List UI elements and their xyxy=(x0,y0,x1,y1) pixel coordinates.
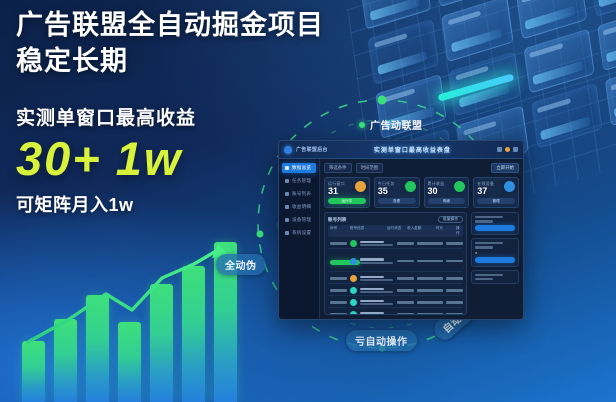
table-row[interactable] xyxy=(328,298,463,308)
sidebar-item-revenue[interactable]: 收益明细 xyxy=(282,202,316,212)
batch-action-button[interactable]: 批量操作 xyxy=(438,216,463,223)
row-status xyxy=(397,260,414,262)
stat-card[interactable]: 累计收益 30 明细 xyxy=(424,177,470,208)
row-duration xyxy=(446,242,463,244)
overview-icon xyxy=(285,166,289,170)
summary-highlight: ● xyxy=(475,251,515,255)
status-icon xyxy=(454,181,465,192)
dashboard-main: 筛选条件 时间范围 立即开始 运行窗口 31 运行中 xyxy=(320,159,523,319)
row-status xyxy=(397,301,414,303)
summary-value xyxy=(475,246,493,248)
sidebar-item-label: 数据总览 xyxy=(292,165,311,171)
summary-side-panel: ● xyxy=(471,212,519,315)
ring-label-top-text: 广告动联盟 xyxy=(370,117,423,132)
stat-card-button[interactable]: 管理 xyxy=(477,198,515,204)
table-header-cell: 序号 xyxy=(330,226,347,236)
trend-arrow xyxy=(22,242,237,402)
grid-panel xyxy=(441,0,513,62)
table-header-cell: 操作 xyxy=(456,226,461,236)
dashboard-body: 数据总览 任务管理 账号列表 收益明细 设备管理 xyxy=(279,159,523,319)
devices-icon xyxy=(285,218,289,222)
grid-panel xyxy=(605,61,616,127)
row-status xyxy=(397,242,414,244)
dashboard-titlebar: 广告联盟后台 实测单窗口最高收益表盘 xyxy=(279,141,523,159)
grid-panel xyxy=(597,6,616,72)
row-account xyxy=(360,241,394,246)
brand-logo-icon xyxy=(284,146,292,154)
row-index xyxy=(330,277,347,279)
dashboard-sidebar: 数据总览 任务管理 账号列表 收益明细 设备管理 xyxy=(279,159,320,319)
stat-card-value: 31 xyxy=(328,187,345,196)
grid-panel xyxy=(589,0,616,17)
dot-icon xyxy=(359,122,365,128)
table-header-cell: 运行状态 xyxy=(387,226,404,236)
row-amount xyxy=(417,260,443,262)
row-amount xyxy=(417,242,443,244)
table-toolbar: 账号列表 批量操作 xyxy=(328,216,463,223)
sidebar-item-label: 账号列表 xyxy=(292,191,311,197)
sidebar-item-label: 收益明细 xyxy=(292,204,311,210)
dashboard-title: 实测单窗口最高收益表盘 xyxy=(332,145,493,154)
table-row[interactable] xyxy=(328,286,463,296)
row-duration xyxy=(446,289,463,291)
accounts-table: 账号列表 批量操作 序号 账号信息 运行状态 收入金额 时长 操作 xyxy=(324,212,467,315)
filter-chip[interactable]: 时间范围 xyxy=(356,163,384,173)
row-account xyxy=(360,258,394,263)
table-header-cell: 账号信息 xyxy=(350,226,384,236)
stat-card-top: 累计收益 30 xyxy=(428,181,466,196)
user-icon[interactable] xyxy=(513,147,518,152)
row-duration xyxy=(446,313,463,315)
summary-value xyxy=(475,278,493,280)
summary-action-button[interactable] xyxy=(475,257,515,263)
stat-card-row: 运行窗口 31 运行中 今日任务 35 xyxy=(324,177,519,208)
row-status xyxy=(397,277,414,279)
stat-card[interactable]: 今日任务 35 查看 xyxy=(374,177,420,208)
table-header-cell: 时长 xyxy=(436,226,453,236)
ring-label-bottom-text: 亏自动操作 xyxy=(355,333,408,348)
status-icon xyxy=(405,181,416,192)
row-duration xyxy=(446,277,463,279)
start-button[interactable]: 立即开始 xyxy=(491,163,519,173)
metric-left: 30+ xyxy=(16,132,102,185)
avatar xyxy=(350,299,357,306)
brand-name: 广告联盟后台 xyxy=(296,146,328,153)
table-header-cell: 收入金额 xyxy=(407,226,433,236)
row-status xyxy=(397,289,414,291)
table-row[interactable] xyxy=(328,310,463,315)
row-account xyxy=(360,312,394,315)
tasks-icon xyxy=(285,179,289,183)
table-and-panel: 账号列表 批量操作 序号 账号信息 运行状态 收入金额 时长 操作 xyxy=(324,212,519,315)
sidebar-item-label: 系统设置 xyxy=(292,230,311,236)
filter-chip[interactable]: 筛选条件 xyxy=(324,163,352,173)
grid-panel xyxy=(523,28,595,94)
stat-card[interactable]: 运行窗口 31 运行中 xyxy=(324,177,370,208)
row-index xyxy=(330,289,347,291)
stat-card-top: 在线设备 37 xyxy=(477,181,515,196)
row-account xyxy=(360,300,394,305)
summary-heading xyxy=(475,274,503,276)
dashboard-mockup[interactable]: 广告联盟后台 实测单窗口最高收益表盘 数据总览 任务管理 xyxy=(278,140,524,320)
summary-card[interactable]: ● xyxy=(471,238,519,267)
status-icon xyxy=(504,181,515,192)
table-row[interactable] xyxy=(328,251,463,272)
status-icon xyxy=(355,181,366,192)
avatar xyxy=(350,287,357,294)
row-duration xyxy=(446,260,463,262)
growth-bar-chart xyxy=(22,242,237,402)
summary-value xyxy=(475,220,493,222)
avatar xyxy=(350,240,357,247)
titlebar-icons xyxy=(497,147,518,152)
stat-card-top: 今日任务 35 xyxy=(378,181,416,196)
promo-banner: 广告联盟全自动掘金项目 稳定长期 实测单窗口最高收益 30+1w 可矩阵月入1w xyxy=(0,0,616,402)
revenue-icon xyxy=(285,205,289,209)
summary-heading xyxy=(475,216,503,218)
sidebar-item-accounts[interactable]: 账号列表 xyxy=(282,189,316,199)
stat-card-top: 运行窗口 31 xyxy=(328,181,366,196)
avatar xyxy=(350,275,357,282)
table-row[interactable] xyxy=(328,239,463,249)
sidebar-item-label: 任务管理 xyxy=(292,178,311,184)
avatar xyxy=(350,258,357,265)
accounts-icon xyxy=(285,192,289,196)
table-row[interactable] xyxy=(328,274,463,284)
summary-card[interactable] xyxy=(471,212,519,235)
sidebar-item-label: 设备管理 xyxy=(292,217,311,223)
bell-icon[interactable] xyxy=(497,147,502,152)
row-index xyxy=(330,301,347,303)
ring-label-bottom: 亏自动操作 xyxy=(346,330,417,351)
stat-card-button[interactable]: 查看 xyxy=(378,198,416,204)
row-index xyxy=(330,313,347,315)
sidebar-item-overview[interactable]: 数据总览 xyxy=(282,163,316,173)
stat-card-value: 35 xyxy=(378,187,395,196)
row-account xyxy=(360,276,394,281)
row-status xyxy=(397,313,414,315)
gear-icon xyxy=(285,231,289,235)
summary-action-button[interactable] xyxy=(475,225,515,231)
ring-label-left-text: 全动伪 xyxy=(225,257,257,272)
sidebar-item-devices[interactable]: 设备管理 xyxy=(282,215,316,225)
stat-card-button[interactable]: 运行中 xyxy=(328,198,366,204)
summary-heading xyxy=(475,242,503,244)
avatar xyxy=(350,311,357,315)
row-amount xyxy=(417,301,443,303)
sidebar-item-tasks[interactable]: 任务管理 xyxy=(282,176,316,186)
table-title: 账号列表 xyxy=(328,217,346,223)
row-account xyxy=(360,288,394,293)
stat-card[interactable]: 在线设备 37 管理 xyxy=(473,177,519,208)
stat-card-button[interactable]: 明细 xyxy=(428,198,466,204)
sidebar-item-settings[interactable]: 系统设置 xyxy=(282,228,316,238)
table-header-row: 序号 账号信息 运行状态 收入金额 时长 操作 xyxy=(328,225,463,237)
row-duration xyxy=(446,301,463,303)
row-amount xyxy=(417,277,443,279)
row-index xyxy=(330,242,347,244)
stat-card-value: 30 xyxy=(428,187,445,196)
ring-label-top: 广告动联盟 xyxy=(350,114,432,135)
stat-card-value: 37 xyxy=(477,187,494,196)
filter-chip-row: 筛选条件 时间范围 立即开始 xyxy=(324,163,519,173)
headline-line-1: 广告联盟全自动掘金项目 xyxy=(16,8,388,44)
summary-card[interactable] xyxy=(471,270,519,285)
row-index xyxy=(330,252,347,270)
warning-icon[interactable] xyxy=(505,147,510,152)
metric-right: 1w xyxy=(116,132,183,185)
row-amount xyxy=(417,313,443,315)
ring-label-left: 全动伪 xyxy=(216,254,266,275)
row-amount xyxy=(417,289,443,291)
